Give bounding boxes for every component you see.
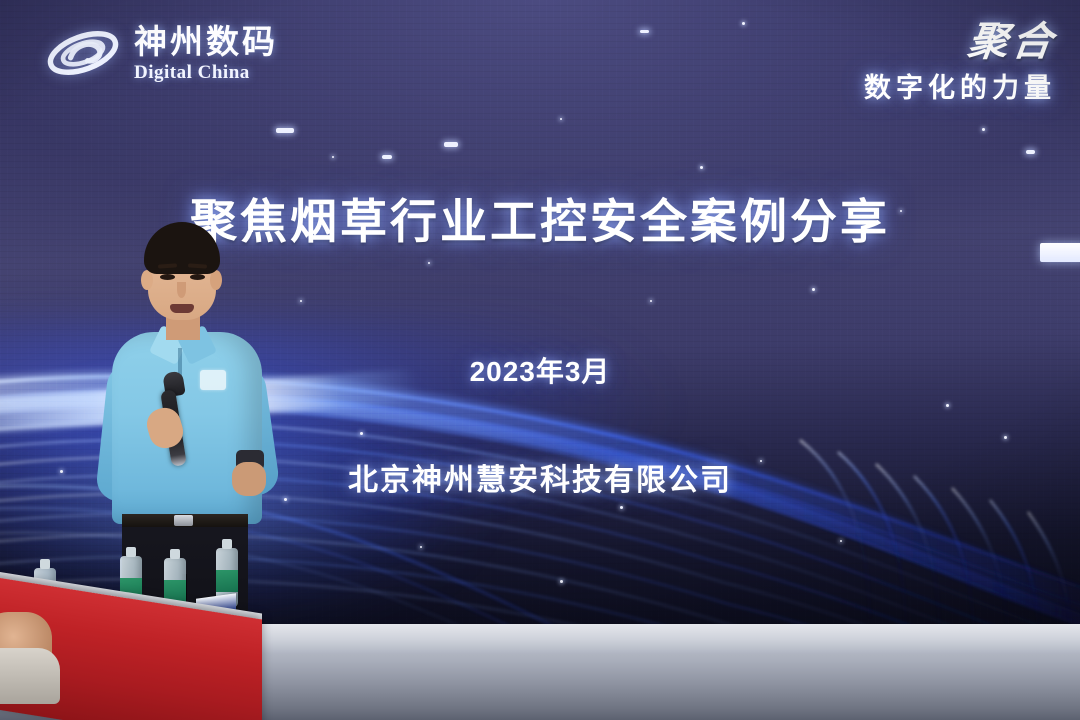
brand-digital-china: 神州数码 Digital China: [44, 22, 278, 84]
juhe-calligraphy: 聚合: [966, 22, 1059, 62]
presenter-nose: [177, 282, 186, 298]
brand-juhe: 聚合 数字化的力量: [864, 22, 1056, 105]
brand-name-cn: 神州数码: [134, 25, 278, 58]
presenter-eye-right: [190, 274, 205, 280]
bottle-label: [216, 570, 238, 592]
presenter-polo-shirt: [112, 332, 262, 524]
presenter-hair: [144, 222, 220, 274]
juhe-tagline: 数字化的力量: [864, 66, 1056, 105]
screenshot-root: 神州数码 Digital China 聚合 数字化的力量 聚焦烟草行业工控安全案…: [0, 0, 1080, 720]
presenter-hand-right: [232, 462, 266, 496]
presenter-eye-left: [160, 274, 175, 280]
brand-name-en: Digital China: [134, 63, 278, 82]
presenter-shirt-logo-icon: [200, 370, 226, 390]
seated-attendee-body: [0, 648, 60, 704]
presenter-mouth: [170, 304, 194, 313]
digital-china-swirl-icon: [44, 22, 122, 84]
screen-edge-highlight: [1040, 243, 1080, 262]
presenter-belt-buckle: [174, 515, 193, 526]
